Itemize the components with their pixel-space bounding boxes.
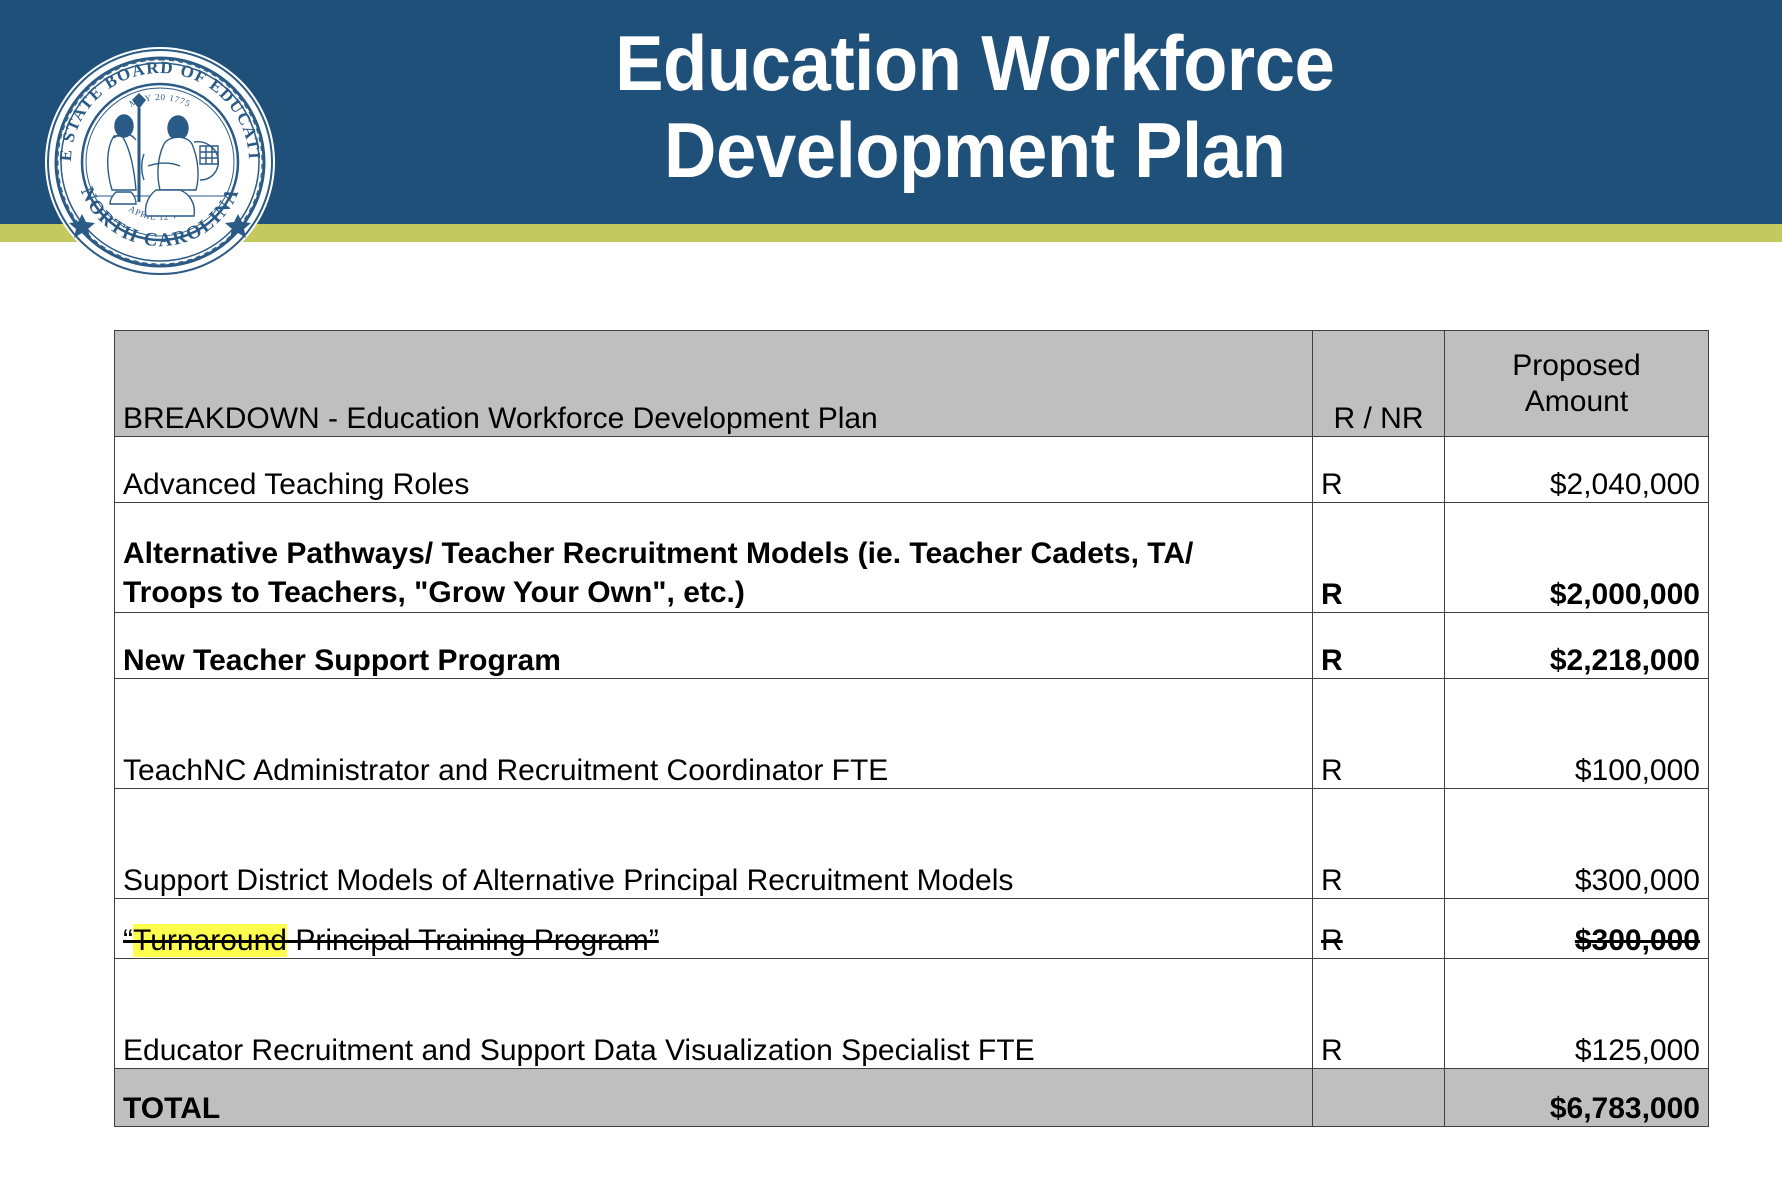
- column-header-breakdown: BREAKDOWN - Education Workforce Developm…: [115, 331, 1313, 437]
- row-amount: $2,218,000: [1445, 613, 1709, 679]
- row-amount: $2,000,000: [1445, 503, 1709, 613]
- table-row: Advanced Teaching Roles R $2,040,000: [115, 437, 1709, 503]
- row-r-nr: R: [1313, 679, 1445, 789]
- row-description: TeachNC Administrator and Recruitment Co…: [115, 679, 1313, 789]
- row-description: Support District Models of Alternative P…: [115, 789, 1313, 899]
- table-row: Alternative Pathways/ Teacher Recruitmen…: [115, 503, 1709, 613]
- row-amount: $300,000: [1445, 789, 1709, 899]
- row-description: Educator Recruitment and Support Data Vi…: [115, 959, 1313, 1069]
- row-description: Alternative Pathways/ Teacher Recruitmen…: [115, 503, 1313, 613]
- column-header-proposed-amount: Proposed Amount: [1445, 331, 1709, 437]
- row-r-nr: R: [1313, 503, 1445, 613]
- table-row-struck: “Turnaround Principal Training Program” …: [115, 899, 1709, 959]
- table-row: Support District Models of Alternative P…: [115, 789, 1709, 899]
- table-row: TeachNC Administrator and Recruitment Co…: [115, 679, 1709, 789]
- row-description: Advanced Teaching Roles: [115, 437, 1313, 503]
- quote-open: “: [123, 924, 133, 957]
- table-row: Educator Recruitment and Support Data Vi…: [115, 959, 1709, 1069]
- slide: THE STATE BOARD OF EDUCATION NORTH CAROL…: [0, 0, 1782, 1180]
- row-amount: $2,040,000: [1445, 437, 1709, 503]
- column-header-r-nr: R / NR: [1313, 331, 1445, 437]
- highlighted-term: Turnaround: [133, 924, 287, 957]
- row-r-nr: R: [1313, 959, 1445, 1069]
- row-r-nr: R: [1313, 899, 1445, 959]
- total-r-nr: [1313, 1069, 1445, 1127]
- table-row: New Teacher Support Program R $2,218,000: [115, 613, 1709, 679]
- total-label: TOTAL: [115, 1069, 1313, 1127]
- budget-breakdown-table: BREAKDOWN - Education Workforce Developm…: [114, 330, 1709, 1127]
- row-r-nr: R: [1313, 437, 1445, 503]
- row-amount: $125,000: [1445, 959, 1709, 1069]
- row-r-nr: R: [1313, 789, 1445, 899]
- description-rest: Principal Training Program”: [287, 924, 659, 957]
- table-header-row: BREAKDOWN - Education Workforce Developm…: [115, 331, 1709, 437]
- row-r-nr: R: [1313, 613, 1445, 679]
- page-title: Education Workforce Development Plan: [330, 2, 1620, 212]
- slide-title-text: Education Workforce Development Plan: [615, 20, 1334, 195]
- nc-state-board-of-education-seal-icon: THE STATE BOARD OF EDUCATION NORTH CAROL…: [44, 46, 276, 278]
- table-total-row: TOTAL $6,783,000: [115, 1069, 1709, 1127]
- row-description: New Teacher Support Program: [115, 613, 1313, 679]
- row-amount: $100,000: [1445, 679, 1709, 789]
- row-description: “Turnaround Principal Training Program”: [115, 899, 1313, 959]
- row-amount: $300,000: [1445, 899, 1709, 959]
- total-amount: $6,783,000: [1445, 1069, 1709, 1127]
- budget-table-container: BREAKDOWN - Education Workforce Developm…: [114, 330, 1708, 1127]
